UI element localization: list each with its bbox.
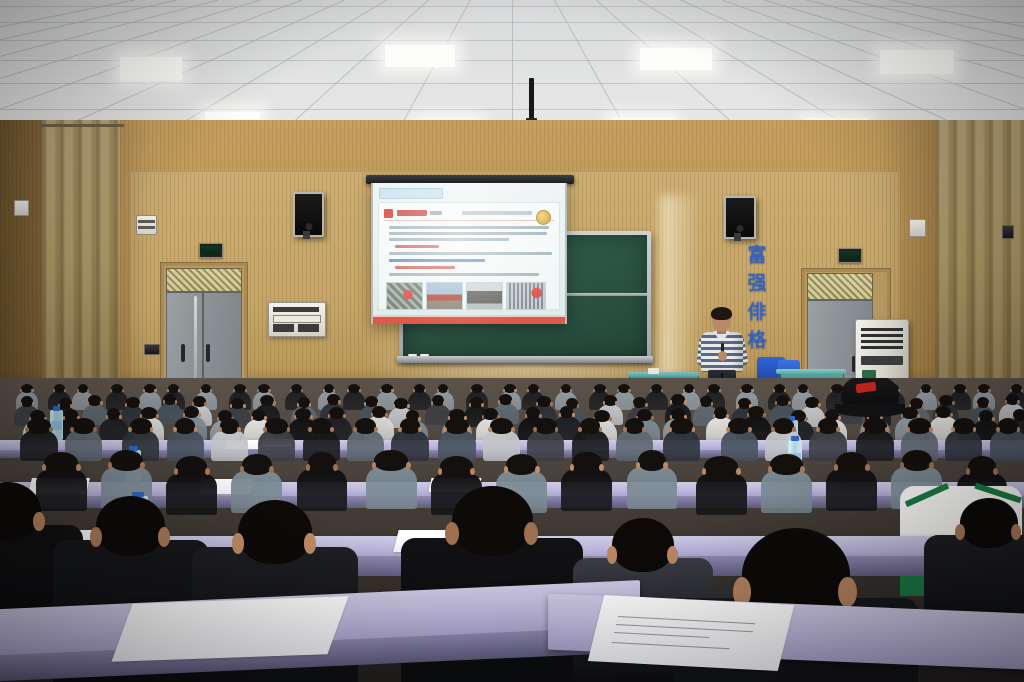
slide-emblem-icon bbox=[536, 210, 551, 225]
audience-ear bbox=[615, 401, 618, 405]
audience-ear bbox=[443, 401, 446, 405]
slide-subtitle-text bbox=[430, 211, 442, 215]
audience-ear bbox=[684, 400, 687, 404]
audience-ear bbox=[32, 402, 35, 406]
audience-ear bbox=[259, 401, 262, 405]
audience-ear bbox=[1005, 400, 1008, 404]
audience-head bbox=[432, 395, 444, 406]
audience-ear bbox=[364, 402, 367, 406]
audience-head bbox=[126, 397, 140, 408]
audience-head bbox=[21, 396, 33, 407]
audience-ear bbox=[751, 389, 753, 392]
audience-ear bbox=[25, 427, 29, 432]
audience-ear bbox=[198, 413, 201, 417]
audience-head bbox=[908, 418, 931, 434]
ceiling-light-panel bbox=[120, 57, 182, 81]
cap-logo-icon bbox=[856, 381, 877, 392]
paper-line bbox=[618, 616, 755, 624]
audience-ear bbox=[692, 427, 696, 432]
audience-ear bbox=[70, 404, 73, 408]
ac-vent-bar bbox=[273, 307, 319, 312]
audience-head bbox=[612, 518, 674, 572]
audience-ear bbox=[748, 427, 752, 432]
audience-ear bbox=[330, 427, 334, 432]
ac-vent-slat bbox=[861, 340, 903, 343]
exit-sign-face bbox=[841, 251, 859, 260]
audience-ear bbox=[865, 464, 870, 471]
slide-text-line-link bbox=[389, 259, 485, 262]
audience-ear bbox=[736, 468, 741, 475]
audience-ear bbox=[264, 416, 267, 420]
audience-ear bbox=[906, 427, 910, 432]
exit-sign-left bbox=[199, 243, 223, 258]
calligraphy-char-1: 富 bbox=[747, 246, 766, 265]
audience-head bbox=[238, 500, 312, 564]
audience-ear bbox=[173, 427, 177, 432]
calligraphy-char-4: 格 bbox=[747, 331, 766, 350]
audience-ear bbox=[20, 402, 23, 406]
audience-area bbox=[0, 378, 1024, 682]
calligraphy-char-2: 强 bbox=[747, 274, 766, 293]
ac-brand-badge bbox=[862, 370, 876, 378]
audience-ear bbox=[996, 427, 1000, 432]
audience-ear bbox=[885, 427, 889, 432]
audience-head bbox=[670, 418, 693, 434]
audience-ear bbox=[514, 389, 516, 392]
ceiling-light-panel bbox=[385, 45, 455, 67]
audience-ear bbox=[385, 413, 388, 417]
lectern-item[interactable] bbox=[648, 368, 659, 374]
ac-vent-left bbox=[273, 324, 294, 332]
audience-ear bbox=[87, 401, 90, 405]
audience-ear bbox=[838, 416, 841, 420]
audience-ear bbox=[511, 400, 514, 404]
projection-screen bbox=[371, 183, 567, 324]
audience-ear bbox=[628, 389, 630, 392]
audience-ear bbox=[651, 416, 654, 420]
audience-ear bbox=[93, 427, 97, 432]
audience-head bbox=[728, 418, 750, 434]
bottle-cap-icon bbox=[791, 436, 799, 441]
audience-ear bbox=[1017, 400, 1020, 404]
audience-ear bbox=[524, 522, 538, 545]
audience-head bbox=[242, 454, 272, 475]
audience-head bbox=[308, 452, 336, 473]
control-box-slit bbox=[138, 226, 155, 229]
audience-ear bbox=[90, 527, 102, 547]
slide-header bbox=[384, 208, 554, 221]
audience-head bbox=[72, 418, 95, 434]
exit-sign-right bbox=[838, 248, 862, 263]
audience-ear bbox=[406, 462, 411, 469]
audience-head bbox=[968, 456, 996, 477]
slide-content-area bbox=[378, 202, 560, 310]
audience-ear bbox=[929, 427, 933, 432]
lecture-hall-photo: 富 强 俳 格 bbox=[0, 0, 1024, 682]
audience-ear bbox=[309, 403, 312, 407]
audience-head bbox=[939, 395, 953, 406]
audience-ear bbox=[125, 403, 128, 407]
slide-thumbnail-3 bbox=[466, 282, 503, 310]
audience-ear bbox=[194, 427, 198, 432]
audience-ear bbox=[488, 427, 492, 432]
audience-ear bbox=[988, 403, 991, 407]
audience-torso bbox=[696, 473, 747, 516]
audience-ear bbox=[445, 522, 459, 545]
presenter-hair bbox=[711, 307, 732, 320]
slide-title-text bbox=[397, 210, 427, 216]
audience-ear bbox=[139, 403, 142, 407]
ac-display-panel[interactable] bbox=[861, 356, 903, 365]
audience-ear bbox=[609, 417, 612, 421]
audience-head bbox=[44, 452, 78, 473]
audience-ear bbox=[711, 402, 714, 406]
audience-head bbox=[953, 418, 975, 434]
audience-ear bbox=[287, 427, 291, 432]
audience-ear bbox=[737, 404, 740, 408]
curtain-rod-left bbox=[40, 124, 124, 127]
audience-head bbox=[440, 456, 473, 477]
slide-text-line-accent bbox=[395, 266, 455, 269]
audience-torso bbox=[663, 430, 700, 461]
audience-ear bbox=[393, 404, 396, 408]
audience-ear bbox=[805, 417, 808, 421]
audience-ear bbox=[861, 427, 865, 432]
slide-header-right-text bbox=[462, 211, 532, 215]
audience-ear bbox=[511, 427, 515, 432]
audience-ear bbox=[343, 414, 346, 418]
control-box-slit bbox=[138, 220, 155, 223]
door-transom-right bbox=[807, 273, 873, 300]
audience-ear bbox=[230, 404, 233, 408]
audience-ear bbox=[338, 400, 341, 404]
audience-ear bbox=[771, 427, 775, 432]
audience-head bbox=[638, 450, 666, 471]
audience-ear bbox=[467, 427, 471, 432]
chalk-tray bbox=[397, 356, 653, 363]
audience-ear bbox=[726, 414, 729, 418]
audience-head bbox=[164, 394, 176, 405]
wall-ac-control-unit[interactable] bbox=[268, 302, 326, 337]
ac-vent-slat bbox=[861, 328, 903, 331]
audience-ear bbox=[804, 403, 807, 407]
slide-thumbnail-2 bbox=[426, 282, 463, 310]
audience-head bbox=[977, 397, 989, 408]
audience-ear bbox=[670, 400, 673, 404]
bottle-cap-icon bbox=[53, 406, 60, 411]
audience-ear bbox=[642, 427, 646, 432]
audience-ear bbox=[154, 389, 156, 392]
audience-head bbox=[998, 418, 1018, 434]
audience-torso bbox=[627, 467, 678, 510]
curtain-left bbox=[42, 120, 120, 420]
audience-ear bbox=[929, 462, 934, 469]
ac-vent-right bbox=[298, 324, 319, 332]
paper-line bbox=[612, 642, 730, 649]
audience-ear bbox=[645, 403, 648, 407]
audience-head bbox=[818, 418, 838, 434]
audience-ear bbox=[632, 403, 635, 407]
audience-head bbox=[220, 418, 239, 434]
speaker-cone-icon bbox=[305, 223, 312, 230]
presenter-hand bbox=[718, 351, 727, 361]
audience-head bbox=[770, 454, 803, 475]
audience-torso bbox=[297, 469, 348, 512]
audience-ear bbox=[469, 403, 472, 407]
audience-ear bbox=[205, 468, 210, 475]
audience-torso bbox=[211, 430, 248, 461]
calligraphy-char-3: 俳 bbox=[747, 303, 766, 322]
audience-ear bbox=[1017, 427, 1021, 432]
audience-ear bbox=[992, 417, 995, 421]
lectern-table-top bbox=[627, 372, 699, 377]
audience-torso bbox=[366, 467, 417, 510]
slide-app-toolbar bbox=[379, 188, 443, 199]
ceiling-light-panel bbox=[880, 50, 954, 74]
audience-ear bbox=[163, 400, 166, 404]
audience-head bbox=[535, 418, 557, 434]
slide-text-line bbox=[389, 232, 547, 235]
audience-torso bbox=[408, 391, 430, 410]
slide-text-line-accent bbox=[395, 245, 439, 248]
audience-head bbox=[580, 418, 600, 434]
audience-ear bbox=[836, 427, 840, 432]
audience-ear bbox=[952, 401, 955, 405]
audience-ear bbox=[158, 527, 170, 547]
audience-ear bbox=[418, 417, 421, 421]
audience-ear bbox=[76, 464, 81, 471]
audience-head bbox=[96, 496, 165, 556]
wall-calligraphy: 富 强 俳 格 bbox=[742, 246, 772, 350]
audience-ear bbox=[481, 403, 484, 407]
slide-text-line bbox=[389, 273, 539, 276]
audience-ear bbox=[243, 404, 246, 408]
audience-ear bbox=[976, 403, 979, 407]
audience-ear bbox=[31, 389, 33, 392]
audience-ear bbox=[398, 427, 402, 432]
audience-head bbox=[394, 398, 408, 409]
audience-head bbox=[704, 456, 738, 477]
audience-ear bbox=[418, 427, 422, 432]
audience-ear bbox=[763, 413, 766, 417]
speaker-mount-right bbox=[734, 233, 741, 241]
audience-head bbox=[310, 418, 332, 434]
audience-ear bbox=[818, 403, 821, 407]
audience-ear bbox=[308, 427, 312, 432]
audience-ear bbox=[699, 402, 702, 406]
audience-ear bbox=[70, 427, 74, 432]
audience-head bbox=[863, 418, 887, 434]
ac-vent-slat bbox=[861, 346, 903, 349]
audience-head bbox=[130, 418, 152, 434]
audience-torso bbox=[761, 471, 812, 514]
audience-ear bbox=[156, 414, 159, 418]
audience-head bbox=[452, 486, 533, 556]
audience-ear bbox=[775, 401, 778, 405]
presentation-slide bbox=[373, 183, 565, 324]
audience-ear bbox=[603, 401, 606, 405]
paper-sheet-front-right[interactable] bbox=[588, 595, 794, 671]
audience-ear bbox=[391, 389, 393, 392]
paper-sheet-front-left[interactable] bbox=[111, 596, 348, 662]
side-table-top bbox=[776, 369, 846, 374]
audience-torso bbox=[36, 469, 87, 512]
audience-ear bbox=[599, 427, 603, 432]
audience-ear bbox=[922, 404, 925, 408]
cap-brim bbox=[835, 404, 905, 417]
audience-ear bbox=[535, 466, 540, 473]
slide-thumbnail-1 bbox=[386, 282, 423, 310]
audience-ear bbox=[788, 401, 791, 405]
slide-text-line bbox=[389, 252, 552, 255]
audience-ear bbox=[269, 466, 274, 473]
door-left-handle[interactable] bbox=[181, 344, 185, 362]
audience-ear bbox=[578, 427, 582, 432]
slide-text-line bbox=[389, 238, 509, 241]
audience-ear bbox=[938, 401, 941, 405]
paper-line bbox=[614, 632, 709, 638]
audience-ear bbox=[268, 389, 270, 392]
audience-ear bbox=[431, 401, 434, 405]
audience-ear bbox=[407, 404, 410, 408]
audience-head bbox=[572, 452, 602, 473]
audience-ear bbox=[550, 402, 553, 406]
jersey-stripe bbox=[905, 483, 949, 507]
audience-ear bbox=[353, 427, 357, 432]
wall-light-strip bbox=[660, 195, 700, 380]
audience-ear bbox=[498, 400, 501, 404]
speaker-mount-left bbox=[303, 231, 310, 239]
audience-head bbox=[902, 450, 932, 471]
wall-notice-plate-left bbox=[144, 344, 160, 355]
audience-ear bbox=[237, 427, 241, 432]
audience-ear bbox=[310, 415, 313, 419]
audience-head bbox=[175, 418, 195, 434]
exit-sign-face bbox=[202, 246, 220, 255]
audience-head bbox=[700, 396, 712, 407]
audience-ear bbox=[988, 389, 990, 392]
wall-plate-far-right bbox=[1002, 225, 1014, 239]
audience-head bbox=[625, 418, 644, 434]
audience-head bbox=[298, 397, 310, 408]
audience-ear bbox=[623, 427, 627, 432]
audience-ear bbox=[536, 402, 539, 406]
audience-ear bbox=[326, 400, 329, 404]
audience-head bbox=[805, 397, 819, 408]
slide-footer-bar bbox=[373, 317, 565, 324]
audience-ear bbox=[577, 404, 580, 408]
audience-head bbox=[110, 450, 143, 471]
audience-head bbox=[374, 450, 408, 471]
audience-torso bbox=[561, 469, 612, 512]
audience-head bbox=[355, 418, 376, 434]
audience-ear bbox=[599, 464, 604, 471]
wall-switch-plate-right[interactable] bbox=[909, 219, 926, 237]
audience-ear bbox=[792, 427, 796, 432]
chalk-piece[interactable] bbox=[408, 354, 417, 356]
audience-ear bbox=[374, 427, 378, 432]
audience-ear bbox=[263, 427, 267, 432]
slide-thumbnail-4 bbox=[506, 282, 546, 310]
audience-ear bbox=[175, 400, 178, 404]
audience-head bbox=[671, 394, 685, 405]
audience-torso bbox=[343, 391, 365, 410]
audience-ear bbox=[533, 427, 537, 432]
audience-ear bbox=[49, 427, 53, 432]
audience-ear bbox=[128, 427, 132, 432]
audience-head bbox=[836, 452, 867, 473]
audience-head bbox=[176, 456, 207, 477]
audience-head bbox=[260, 395, 274, 406]
audience-ear bbox=[572, 413, 575, 417]
door-transom-left bbox=[166, 268, 242, 292]
ceiling-light-panel bbox=[640, 48, 712, 70]
audience-ear bbox=[119, 415, 122, 419]
audience-head bbox=[773, 418, 794, 434]
audience-torso bbox=[826, 469, 877, 512]
audience-ear bbox=[816, 427, 820, 432]
audience-ear bbox=[950, 413, 953, 417]
speaker-cone-icon bbox=[737, 225, 744, 232]
audience-head bbox=[265, 418, 288, 434]
slide-bullet-icon bbox=[384, 209, 393, 218]
chalk-piece[interactable] bbox=[420, 354, 429, 356]
audience-ear bbox=[33, 512, 45, 531]
door-left-handle-2[interactable] bbox=[206, 344, 210, 362]
audience-ear bbox=[951, 427, 955, 432]
audience-head bbox=[490, 418, 513, 434]
wall-switch-plate-left[interactable] bbox=[14, 200, 29, 216]
wall-control-box-left[interactable] bbox=[136, 215, 157, 235]
audience-ear bbox=[443, 427, 447, 432]
audience-ear bbox=[273, 401, 276, 405]
audience-head bbox=[445, 418, 469, 434]
audience-torso bbox=[166, 473, 217, 516]
audience-head bbox=[537, 396, 551, 407]
slide-text-line bbox=[389, 226, 549, 229]
paper-line bbox=[616, 624, 753, 632]
audience-ear bbox=[297, 403, 300, 407]
audience-ear bbox=[218, 427, 222, 432]
ac-vent-slat bbox=[861, 334, 903, 337]
audience-ear bbox=[204, 402, 207, 406]
audience-head bbox=[400, 418, 420, 434]
audience-torso bbox=[990, 430, 1024, 461]
audience-ear bbox=[100, 401, 103, 405]
audience-head bbox=[506, 454, 537, 475]
audience-head bbox=[960, 498, 1018, 548]
curtain-right bbox=[935, 120, 1024, 420]
audience-ear bbox=[607, 546, 618, 564]
audience-ear bbox=[726, 427, 730, 432]
audience-ear bbox=[668, 427, 672, 432]
ac-panel-bar bbox=[273, 315, 321, 323]
audience-torso bbox=[645, 391, 667, 410]
audience-head bbox=[27, 418, 51, 434]
audience-ear bbox=[667, 546, 678, 564]
